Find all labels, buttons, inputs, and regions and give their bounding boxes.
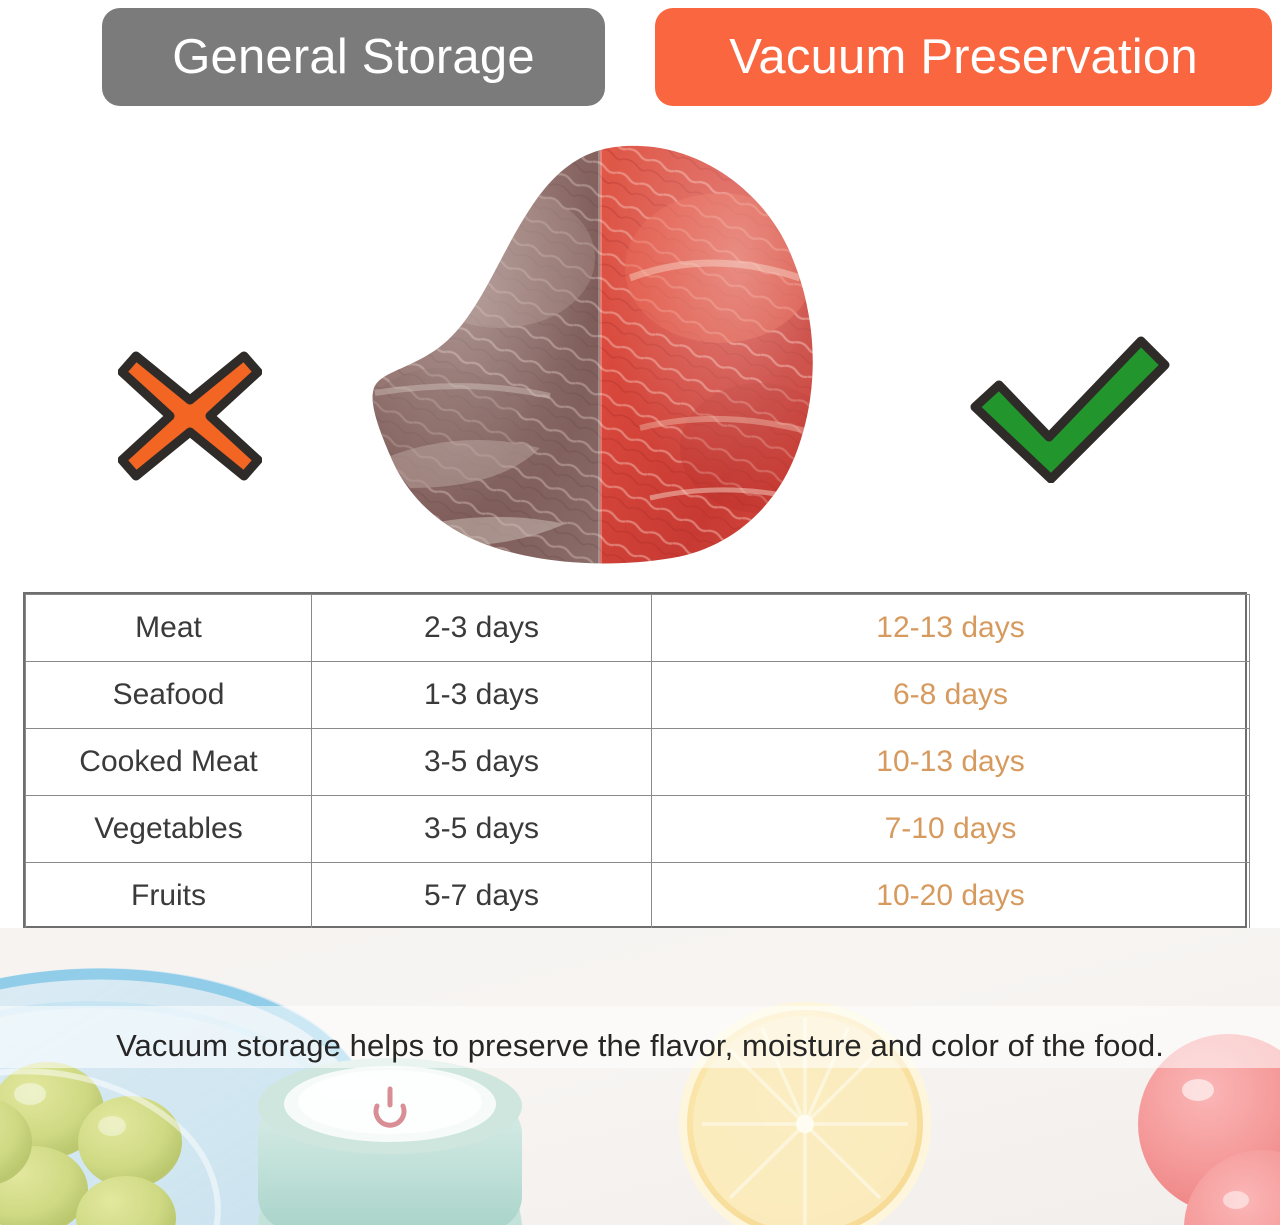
- storage-comparison-table: Meat 2-3 days 12-13 days Seafood 1-3 day…: [23, 592, 1247, 928]
- cell-general: 1-3 days: [312, 662, 652, 729]
- split-steak-image: [350, 128, 850, 568]
- x-mark-icon: [118, 350, 262, 482]
- cell-vacuum: 10-20 days: [652, 863, 1250, 930]
- badge-general-storage: General Storage: [102, 8, 605, 106]
- cell-vacuum: 12-13 days: [652, 595, 1250, 662]
- table-row: Seafood 1-3 days 6-8 days: [26, 662, 1250, 729]
- cell-food: Meat: [26, 595, 312, 662]
- cell-vacuum: 10-13 days: [652, 729, 1250, 796]
- comparison-table: Meat 2-3 days 12-13 days Seafood 1-3 day…: [25, 594, 1250, 930]
- footer-caption: Vacuum storage helps to preserve the fla…: [0, 1028, 1280, 1064]
- table-body: Meat 2-3 days 12-13 days Seafood 1-3 day…: [26, 595, 1250, 930]
- badge-vacuum-preservation: Vacuum Preservation: [655, 8, 1272, 106]
- table-row: Meat 2-3 days 12-13 days: [26, 595, 1250, 662]
- table-row: Vegetables 3-5 days 7-10 days: [26, 796, 1250, 863]
- photo-illustration: [0, 928, 1280, 1225]
- cell-general: 5-7 days: [312, 863, 652, 930]
- cell-general: 2-3 days: [312, 595, 652, 662]
- badge-vacuum-preservation-label: Vacuum Preservation: [729, 29, 1198, 85]
- cell-vacuum: 7-10 days: [652, 796, 1250, 863]
- cell-food: Fruits: [26, 863, 312, 930]
- cell-food: Seafood: [26, 662, 312, 729]
- vacuum-sealer-food-photo: Vacuum storage helps to preserve the fla…: [0, 928, 1280, 1225]
- header-badges-row: General Storage Vacuum Preservation: [0, 0, 1280, 118]
- cell-general: 3-5 days: [312, 796, 652, 863]
- cell-food: Cooked Meat: [26, 729, 312, 796]
- cell-food: Vegetables: [26, 796, 312, 863]
- table-row: Fruits 5-7 days 10-20 days: [26, 863, 1250, 930]
- check-mark-icon: [965, 333, 1175, 483]
- cell-vacuum: 6-8 days: [652, 662, 1250, 729]
- table-row: Cooked Meat 3-5 days 10-13 days: [26, 729, 1250, 796]
- badge-general-storage-label: General Storage: [172, 29, 535, 85]
- cell-general: 3-5 days: [312, 729, 652, 796]
- comparison-band: [0, 118, 1280, 580]
